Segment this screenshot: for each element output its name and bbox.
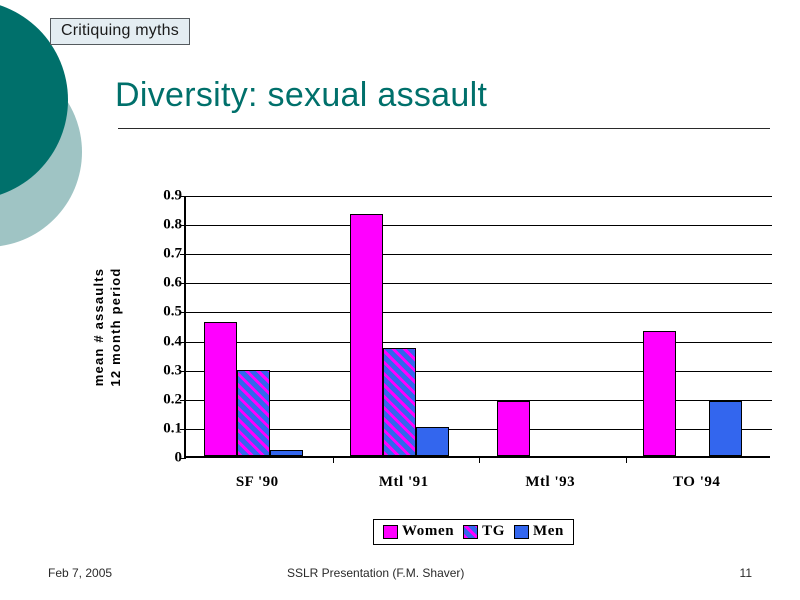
- gridline: [186, 283, 772, 284]
- y-axis-tick-label: 0: [140, 450, 182, 467]
- bar-tg-0: [237, 370, 270, 456]
- legend-label: TG: [482, 523, 505, 540]
- legend-swatch-men: [514, 525, 529, 539]
- slide-footer: Feb 7, 2005 SSLR Presentation (F.M. Shav…: [0, 566, 800, 590]
- footer-presentation-title: SSLR Presentation (F.M. Shaver): [287, 566, 464, 580]
- x-axis-category-label: Mtl '93: [477, 474, 624, 491]
- y-axis-tickmark: [180, 225, 186, 226]
- footer-date: Feb 7, 2005: [48, 566, 112, 580]
- gridline: [186, 400, 772, 401]
- y-axis-tickmark: [180, 371, 186, 372]
- x-axis-category-separator: [479, 456, 480, 463]
- x-axis-category-label: SF '90: [184, 474, 331, 491]
- gridline: [186, 429, 772, 430]
- bar-chart: mean # assaults12 month period 0.90.80.7…: [0, 0, 800, 560]
- y-axis-tickmark: [180, 342, 186, 343]
- legend-item-tg: TG: [463, 523, 505, 540]
- gridline: [186, 371, 772, 372]
- x-axis-category-label: Mtl '91: [331, 474, 478, 491]
- bar-women-3: [643, 331, 676, 456]
- y-axis-tickmark: [180, 312, 186, 313]
- y-axis-tickmark: [180, 283, 186, 284]
- legend-label: Women: [402, 523, 454, 540]
- y-axis-tickmark: [180, 400, 186, 401]
- y-axis-tick-label: 0.8: [140, 217, 182, 234]
- bar-women-0: [204, 322, 237, 456]
- y-axis-label-line: mean # assaults: [90, 267, 107, 386]
- legend-swatch-women: [383, 525, 398, 539]
- bar-men-3: [709, 401, 742, 456]
- bar-tg-1: [383, 348, 416, 456]
- y-axis-tick-label: 0.5: [140, 304, 182, 321]
- legend-label: Men: [533, 523, 564, 540]
- y-axis-tick-label: 0.2: [140, 391, 182, 408]
- bar-women-2: [497, 401, 530, 456]
- y-axis-tick-label: 0.3: [140, 362, 182, 379]
- legend-item-men: Men: [514, 523, 564, 540]
- legend-item-women: Women: [383, 523, 454, 540]
- y-axis-tickmark: [180, 458, 186, 459]
- y-axis-tick-label: 0.1: [140, 420, 182, 437]
- y-axis-tick-label: 0.7: [140, 246, 182, 263]
- bar-women-1: [350, 214, 383, 456]
- gridline: [186, 254, 772, 255]
- y-axis-label-line: 12 month period: [107, 267, 124, 386]
- y-axis-tickmark: [180, 429, 186, 430]
- x-axis-category-label: TO '94: [624, 474, 771, 491]
- gridline: [186, 312, 772, 313]
- bar-men-1: [416, 427, 449, 456]
- x-axis-category-separator: [333, 456, 334, 463]
- bar-men-0: [270, 450, 303, 456]
- gridline: [186, 225, 772, 226]
- gridline: [186, 342, 772, 343]
- y-axis-tick-label: 0.9: [140, 188, 182, 205]
- plot-area: [184, 196, 770, 458]
- y-axis-tick-label: 0.6: [140, 275, 182, 292]
- y-axis-tickmark: [180, 254, 186, 255]
- y-axis-label: mean # assaults12 month period: [84, 196, 130, 458]
- y-axis-tick-labels: 0.90.80.70.60.50.40.30.20.10: [140, 189, 182, 467]
- footer-page-number: 11: [708, 566, 752, 580]
- legend-swatch-tg: [463, 525, 478, 539]
- chart-legend: WomenTGMen: [373, 519, 574, 545]
- y-axis-tickmark: [180, 196, 186, 197]
- x-axis-category-separator: [626, 456, 627, 463]
- gridline: [186, 196, 772, 197]
- y-axis-tick-label: 0.4: [140, 333, 182, 350]
